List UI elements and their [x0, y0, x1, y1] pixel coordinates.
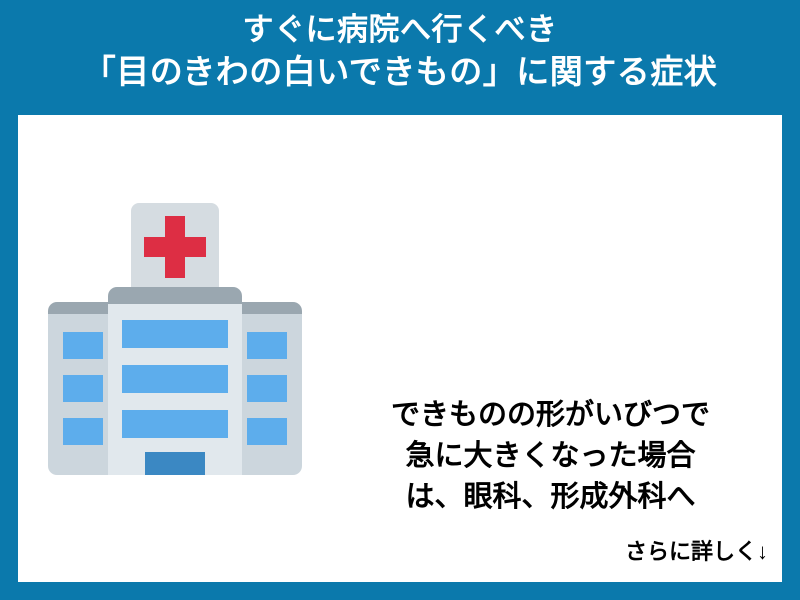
read-more-link[interactable]: さらに詳しく↓ — [625, 534, 768, 566]
window-center-1 — [122, 320, 228, 348]
title-line-1: すぐに病院へ行くべき — [243, 14, 558, 45]
window-left-1 — [63, 332, 103, 359]
slide-root: すぐに病院へ行くべき 「目のきわの白いできもの」に関する症状 — [0, 0, 800, 600]
window-right-2 — [247, 375, 287, 402]
message-line-1: できものの形がいびつで — [348, 395, 753, 436]
window-right-3 — [247, 418, 287, 445]
content-card: できものの形がいびつで 急に大きくなった場合 は、眼科、形成外科へ さらに詳しく… — [18, 115, 782, 582]
title-line-2: 「目のきわの白いできもの」に関する症状 — [83, 55, 718, 88]
hospital-building-illustration — [34, 190, 314, 490]
illustration-canvas — [34, 190, 314, 490]
window-right-1 — [247, 332, 287, 359]
header-banner: すぐに病院へ行くべき 「目のきわの白いできもの」に関する症状 — [0, 0, 800, 112]
entrance-door — [145, 452, 205, 475]
window-left-3 — [63, 418, 103, 445]
main-message: できものの形がいびつで 急に大きくなった場合 は、眼科、形成外科へ — [348, 395, 753, 519]
message-line-2: 急に大きくなった場合 — [348, 436, 753, 477]
window-center-2 — [122, 365, 228, 393]
window-left-2 — [63, 375, 103, 402]
window-center-3 — [122, 410, 228, 438]
message-line-3: は、眼科、形成外科へ — [348, 477, 753, 518]
red-cross-icon-bar — [144, 237, 206, 257]
